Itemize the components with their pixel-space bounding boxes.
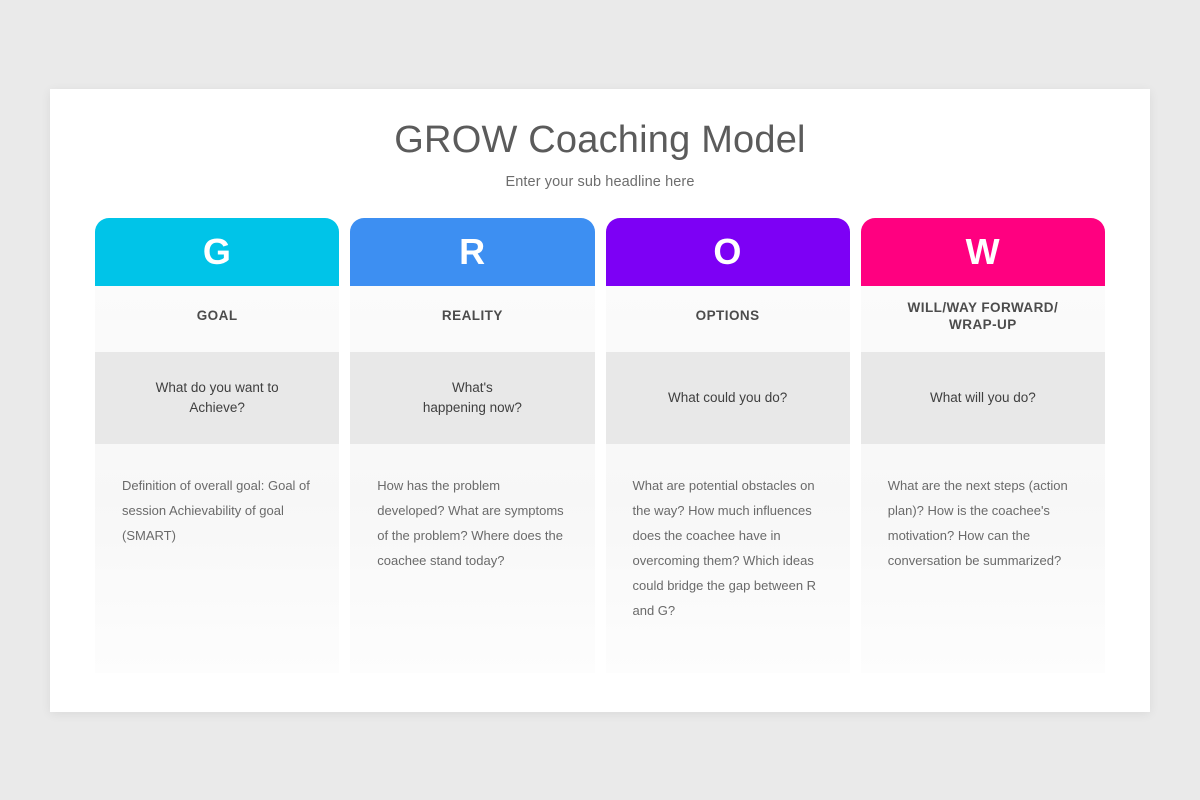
column-question-will: What will you do? [861, 352, 1105, 444]
grow-column-will[interactable]: W WILL/WAY FORWARD/ WRAP-UP What will yo… [861, 218, 1105, 673]
column-description-options: What are potential obstacles on the way?… [606, 444, 850, 624]
column-header-reality[interactable]: R [350, 218, 594, 286]
grow-column-options[interactable]: O OPTIONS What could you do? What are po… [606, 218, 850, 673]
column-description-will: What are the next steps (action plan)? H… [861, 444, 1105, 574]
column-description-reality: How has the problem developed? What are … [350, 444, 594, 574]
column-letter-options: O [713, 234, 742, 270]
grow-column-reality[interactable]: R REALITY What's happening now? How has … [350, 218, 594, 673]
grow-column-goal[interactable]: G GOAL What do you want to Achieve? Defi… [95, 218, 339, 673]
column-title-goal: GOAL [95, 286, 339, 346]
column-title-reality: REALITY [350, 286, 594, 346]
grow-columns: G GOAL What do you want to Achieve? Defi… [95, 218, 1105, 673]
column-title-options: OPTIONS [606, 286, 850, 346]
column-header-will[interactable]: W [861, 218, 1105, 286]
column-body-options: OPTIONS What could you do? What are pote… [606, 286, 850, 673]
column-letter-will: W [966, 234, 1000, 270]
column-title-will: WILL/WAY FORWARD/ WRAP-UP [861, 286, 1105, 346]
column-header-options[interactable]: O [606, 218, 850, 286]
column-letter-reality: R [459, 234, 486, 270]
column-question-goal: What do you want to Achieve? [95, 352, 339, 444]
column-body-goal: GOAL What do you want to Achieve? Defini… [95, 286, 339, 673]
column-body-reality: REALITY What's happening now? How has th… [350, 286, 594, 673]
title-block: GROW Coaching Model Enter your sub headl… [50, 89, 1150, 190]
column-question-options: What could you do? [606, 352, 850, 444]
page-subtitle: Enter your sub headline here [50, 174, 1150, 190]
column-description-goal: Definition of overall goal: Goal of sess… [95, 444, 339, 549]
column-letter-goal: G [203, 234, 232, 270]
column-question-reality: What's happening now? [350, 352, 594, 444]
page-title: GROW Coaching Model [50, 118, 1150, 162]
column-header-goal[interactable]: G [95, 218, 339, 286]
column-body-will: WILL/WAY FORWARD/ WRAP-UP What will you … [861, 286, 1105, 673]
slide-canvas: GROW Coaching Model Enter your sub headl… [50, 89, 1150, 712]
